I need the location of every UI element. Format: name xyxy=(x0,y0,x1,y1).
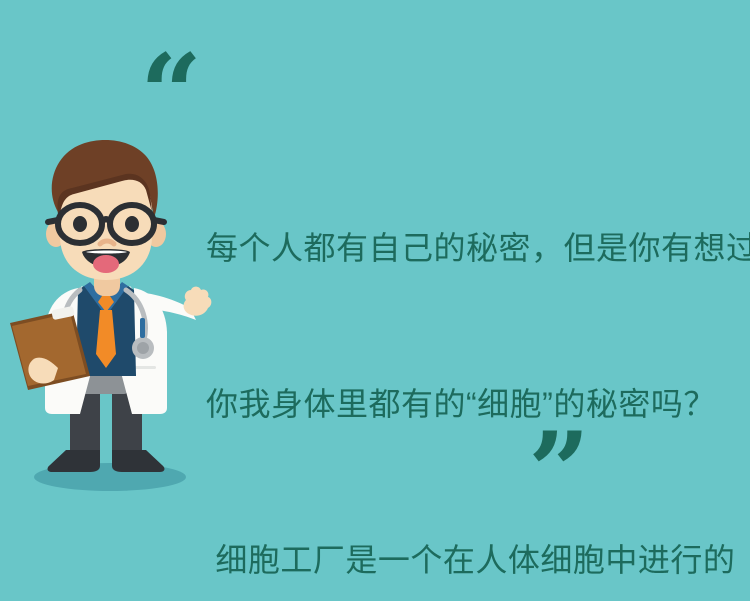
quote-line: 每个人都有自己的秘密，但是你有想过 xyxy=(206,222,730,274)
pocket-pen-icon xyxy=(140,318,145,338)
orange-tie-icon xyxy=(96,290,116,368)
quote-line: 细胞工厂是一个在人体细胞中进行的 xyxy=(206,534,730,586)
quote-text-block: 每个人都有自己的秘密，但是你有想过 你我身体里都有的“细胞”的秘密吗？ 细胞工厂… xyxy=(206,118,730,601)
quote-line: 你我身体里都有的“细胞”的秘密吗？ xyxy=(206,378,730,430)
left-eye-icon xyxy=(73,216,87,232)
close-quote-icon: ” xyxy=(528,418,592,526)
open-quote-icon: “ xyxy=(140,40,204,148)
right-eye-icon xyxy=(125,216,139,232)
doctor-illustration xyxy=(0,140,220,500)
quote-card: “ xyxy=(0,0,750,601)
